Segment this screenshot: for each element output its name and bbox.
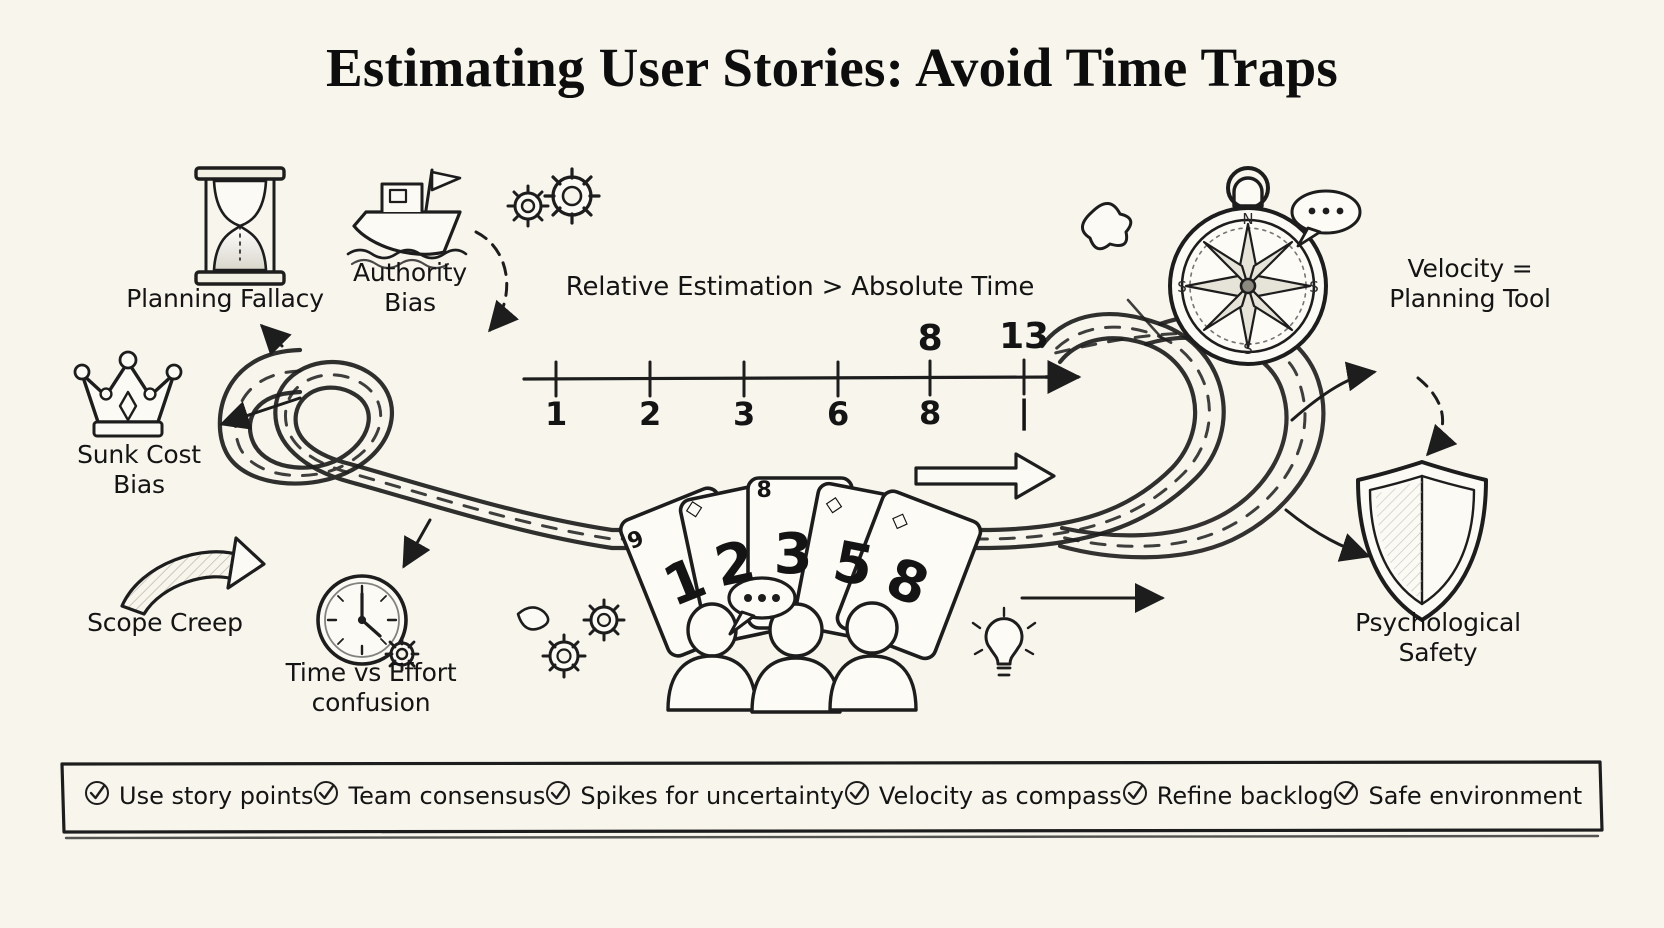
checklist-item-0[interactable]: Use story points xyxy=(84,780,313,812)
check-circle-icon xyxy=(844,780,870,812)
crown-icon xyxy=(75,352,181,436)
center-heading: Relative Estimation > Absolute Time xyxy=(520,272,1080,303)
infographic-canvas: Estimating User Stories: Avoid Time Trap… xyxy=(0,0,1664,928)
checklist-item-label: Team consensus xyxy=(348,782,545,810)
shield-icon xyxy=(1358,462,1486,620)
checklist-item-label: Refine backlog xyxy=(1157,782,1334,810)
check-circle-icon xyxy=(545,780,571,812)
compass-west-label: S xyxy=(1177,278,1187,296)
axis-tick-label-4: 8 xyxy=(900,395,960,433)
trap-label-sunk-cost-bias: Sunk Cost Bias xyxy=(24,440,254,499)
checklist-item-label: Velocity as compass xyxy=(879,782,1122,810)
gear-icon-top-large xyxy=(545,169,599,223)
arrow-to-time-effort xyxy=(404,520,430,566)
checklist-item-label: Use story points xyxy=(119,782,313,810)
trap-label-scope-creep: Scope Creep xyxy=(40,608,290,638)
axis-top-label-13: 13 xyxy=(986,316,1062,358)
clock-gear-icon xyxy=(318,576,418,670)
lightbulb-icon xyxy=(973,608,1035,675)
sinking-ship-icon xyxy=(348,170,466,268)
gear-icon-bottom-a xyxy=(584,600,624,640)
checklist-item-1[interactable]: Team consensus xyxy=(313,780,545,812)
axis-tick-label-3: 6 xyxy=(808,396,868,434)
axis-tick-label-1: 2 xyxy=(620,396,680,434)
check-circle-icon xyxy=(313,780,339,812)
story-point-number-line xyxy=(524,360,1078,396)
arrow-to-planning-fallacy xyxy=(262,326,282,346)
gear-icon-top-small xyxy=(508,186,548,226)
arrow-to-shield xyxy=(1286,510,1368,556)
checklist-bar: Use story points Team consensus Spikes f… xyxy=(62,762,1602,830)
check-circle-icon xyxy=(1333,780,1359,812)
hourglass-icon xyxy=(196,168,284,284)
compass-east-label: S xyxy=(1309,278,1319,296)
trap-label-time-vs-effort: Time vs Effort confusion xyxy=(256,658,486,717)
axis-tick-label-0: 1 xyxy=(526,396,586,434)
curved-arrow-icon xyxy=(122,538,264,614)
axis-top-label-8: 8 xyxy=(900,318,960,360)
trap-label-authority-bias: Authority Bias xyxy=(300,258,520,317)
outcome-label-velocity: Velocity = Planning Tool xyxy=(1340,254,1600,313)
checklist-item-label: Spikes for uncertainty xyxy=(580,782,844,810)
checklist-item-3[interactable]: Velocity as compass xyxy=(844,780,1122,812)
compass-speech-bubble-icon xyxy=(1292,191,1360,246)
arrow-to-psych-safety-dashed xyxy=(1418,378,1443,454)
checklist-item-label: Safe environment xyxy=(1368,782,1582,810)
check-circle-icon xyxy=(84,780,110,812)
checklist-item-4[interactable]: Refine backlog xyxy=(1122,780,1334,812)
spark-doodle-right xyxy=(1082,203,1130,248)
hollow-arrow-right xyxy=(916,454,1054,498)
compass-south-label: S xyxy=(1243,340,1253,358)
gear-icon-bottom-b xyxy=(543,635,585,677)
axis-tick-label-2: 3 xyxy=(714,396,774,434)
outcome-label-psych-safety: Psychological Safety xyxy=(1308,608,1568,667)
spark-doodle-left xyxy=(518,607,548,629)
checklist-item-2[interactable]: Spikes for uncertainty xyxy=(545,780,844,812)
checklist-item-5[interactable]: Safe environment xyxy=(1333,780,1582,812)
poker-card-corner-3: 8 xyxy=(742,478,786,504)
compass-north-label: N xyxy=(1242,210,1253,228)
axis-tick-label-5: | xyxy=(994,394,1054,432)
check-circle-icon xyxy=(1122,780,1148,812)
